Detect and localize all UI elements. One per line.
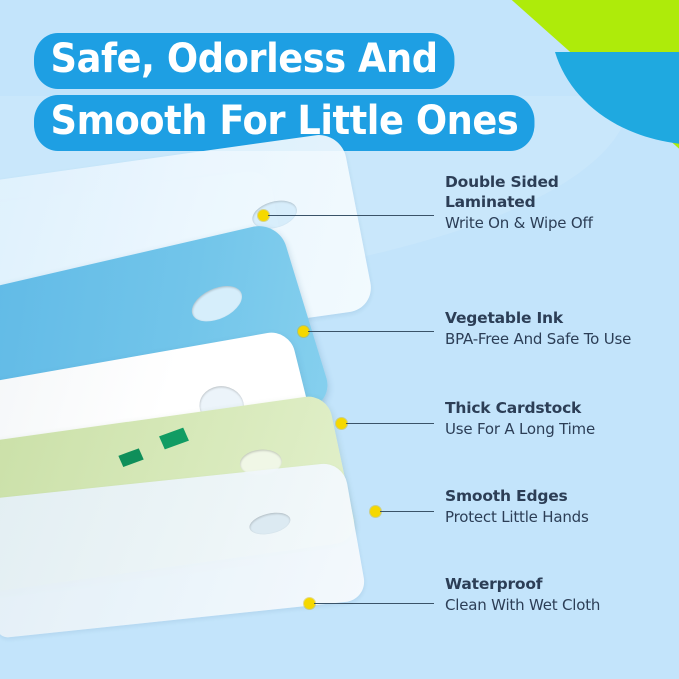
green-graphic-accent-2	[118, 448, 143, 467]
headline-line-1: Safe, Odorless And	[34, 33, 454, 89]
callout-subtitle: Protect Little Hands	[445, 507, 679, 527]
callout-title: Vegetable Ink	[445, 308, 679, 328]
callout-subtitle: Use For A Long Time	[445, 419, 679, 439]
callout-title: Smooth Edges	[445, 486, 679, 506]
callout-line	[314, 603, 434, 604]
callout-title-line2: Laminated	[445, 192, 679, 212]
callout-line	[380, 511, 434, 512]
callout-text: Double Sided Laminated Write On & Wipe O…	[445, 172, 679, 233]
callout-line	[308, 331, 434, 332]
callout-subtitle: Write On & Wipe Off	[445, 213, 679, 233]
punch-hole	[185, 279, 248, 329]
callout-text: Thick Cardstock Use For A Long Time	[445, 398, 679, 439]
callout-subtitle: BPA-Free And Safe To Use	[445, 329, 679, 349]
callout-line	[346, 423, 434, 424]
punch-hole	[247, 509, 294, 538]
product-infographic: Safe, Odorless And Smooth For Little One…	[0, 0, 679, 679]
callout-line	[268, 215, 434, 216]
callout-text: Smooth Edges Protect Little Hands	[445, 486, 679, 527]
callout-text: Waterproof Clean With Wet Cloth	[445, 574, 679, 615]
callout-text: Vegetable Ink BPA-Free And Safe To Use	[445, 308, 679, 349]
callout-title: Double Sided	[445, 172, 679, 192]
green-graphic-accent	[159, 428, 189, 450]
callout-subtitle: Clean With Wet Cloth	[445, 595, 679, 615]
flashcard-stack-image: pple	[0, 150, 460, 670]
headline: Safe, Odorless And Smooth For Little One…	[34, 33, 594, 151]
callout-title: Thick Cardstock	[445, 398, 679, 418]
callout-title: Waterproof	[445, 574, 679, 594]
